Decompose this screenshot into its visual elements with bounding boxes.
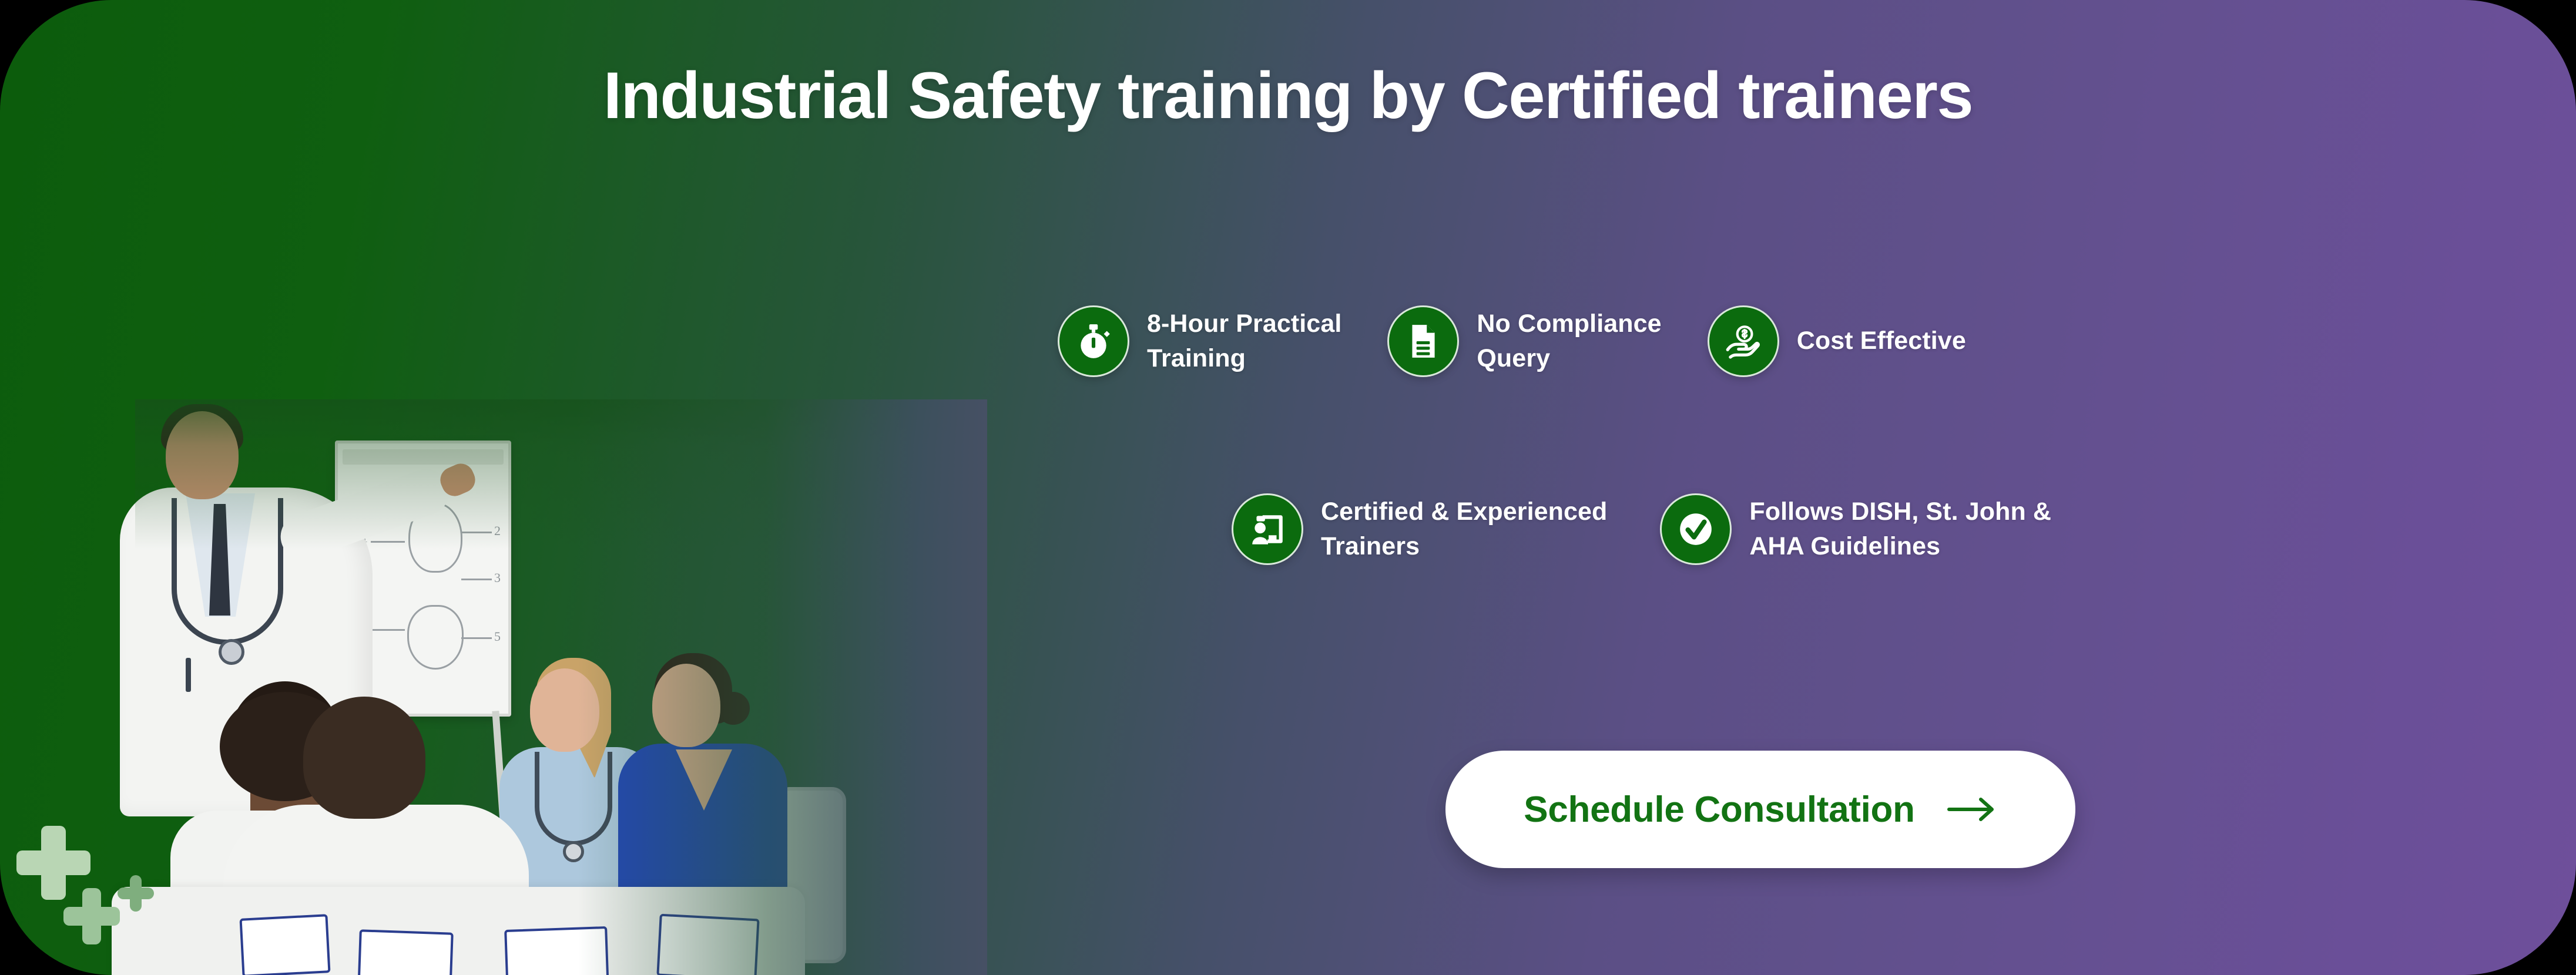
clipboard xyxy=(357,929,454,975)
sketch-leader-line xyxy=(461,532,492,533)
hand-holding-coin-icon xyxy=(1708,305,1779,377)
feature-label: Follows DISH, St. John & AHA Guidelines xyxy=(1749,495,2051,564)
stethoscope-bell xyxy=(219,639,244,665)
feature-list-row-1: 8-Hour Practical Training No Compliance … xyxy=(1058,305,1966,377)
sketch-number: 3 xyxy=(494,570,501,586)
nurse-stethoscope xyxy=(535,752,612,846)
nurse-stethoscope-bell xyxy=(563,841,584,862)
feature-label: Certified & Experienced Trainers xyxy=(1321,495,1607,564)
nurse-light-scrubs-head xyxy=(530,668,599,752)
stopwatch-icon xyxy=(1058,305,1129,377)
hero-banner: 2 3 5 1 4 xyxy=(0,0,2576,975)
clipboard xyxy=(504,926,609,975)
foreground-man-head xyxy=(303,697,425,819)
feature-list-row-2: Certified & Experienced Trainers Follows… xyxy=(1232,493,2051,565)
page-title: Industrial Safety training by Certified … xyxy=(0,61,2576,130)
feature-item-guidelines: Follows DISH, St. John & AHA Guidelines xyxy=(1660,493,2051,565)
clipboard xyxy=(239,914,330,975)
feature-label: 8-Hour Practical Training xyxy=(1147,307,1341,376)
sketch-leader-line xyxy=(371,541,405,543)
feature-item-practical-training: 8-Hour Practical Training xyxy=(1058,305,1341,377)
document-icon xyxy=(1387,305,1459,377)
feature-item-certified-trainers: Certified & Experienced Trainers xyxy=(1232,493,1607,565)
anatomy-sketch-lower xyxy=(407,605,464,670)
sketch-leader-line xyxy=(371,629,405,631)
presenter-board-icon xyxy=(1232,493,1303,565)
medical-cross-icon xyxy=(16,826,90,900)
clipboard xyxy=(656,914,759,975)
schedule-consultation-button[interactable]: Schedule Consultation xyxy=(1445,751,2075,868)
trainer-head xyxy=(166,411,239,499)
cta-label: Schedule Consultation xyxy=(1524,789,1914,831)
coat-pocket-pen xyxy=(186,658,191,692)
check-circle-icon xyxy=(1660,493,1732,565)
feature-label: No Compliance Query xyxy=(1477,307,1661,376)
sketch-leader-line xyxy=(461,579,492,580)
arrow-right-icon xyxy=(1947,796,1997,823)
feature-item-no-compliance-query: No Compliance Query xyxy=(1387,305,1661,377)
trainer-stethoscope xyxy=(172,498,283,645)
nurse-blue-scrubs-head xyxy=(652,664,720,747)
sketch-number: 5 xyxy=(494,629,501,644)
sketch-leader-line xyxy=(461,637,492,639)
feature-item-cost-effective: Cost Effective xyxy=(1708,305,1966,377)
feature-label: Cost Effective xyxy=(1797,324,1966,358)
training-photo: 2 3 5 1 4 xyxy=(135,399,987,975)
sketch-number: 2 xyxy=(494,523,501,539)
